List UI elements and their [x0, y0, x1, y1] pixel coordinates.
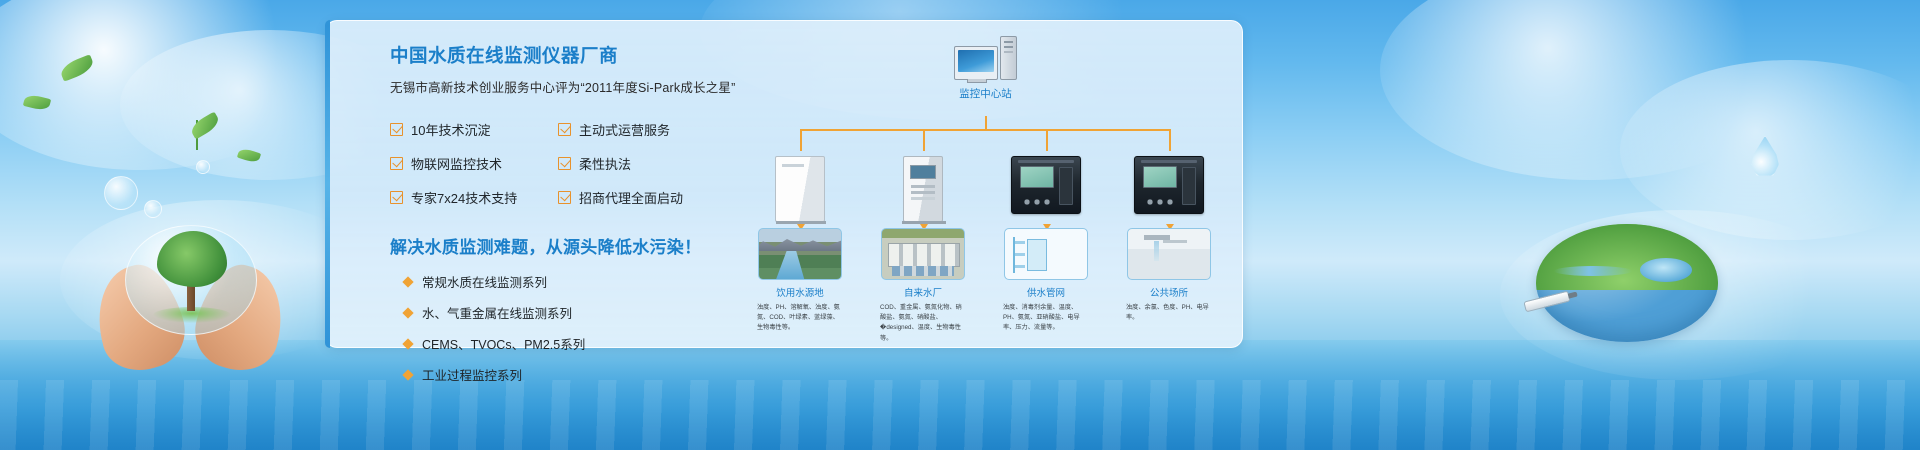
feature-label: 主动式运营服务 — [579, 120, 670, 139]
feature-item[interactable]: 柔性执法 — [558, 154, 728, 173]
scenario-photo-water-supply-network — [1004, 228, 1088, 280]
monitor-icon — [954, 46, 998, 80]
scenario-photo-waterworks — [881, 228, 965, 280]
leaf-icon — [23, 93, 51, 112]
scenario-title: 公共场所 — [1119, 285, 1219, 299]
leaf-icon — [237, 147, 261, 164]
checkbox-checked-icon — [390, 157, 403, 170]
tree-crown — [157, 231, 227, 287]
feature-item[interactable]: 物联网监控技术 — [390, 154, 558, 173]
device-cabinet-grey[interactable] — [873, 128, 973, 226]
scenario-title: 饮用水源地 — [750, 285, 850, 299]
feature-label: 物联网监控技术 — [411, 154, 502, 173]
diamond-bullet-icon — [402, 369, 413, 380]
list-item[interactable]: 工业过程监控系列 — [390, 365, 720, 384]
scenario-description: 浊度、余氯、色度、PH、电导率。 — [1126, 303, 1212, 323]
application-scenarios: 饮用水源地 浊度、PH、溶解氧、浊度、氨氮、COD、叶绿素、蓝绿藻、生物毒性等。… — [760, 228, 1190, 338]
panel-text-column: 中国水质在线监测仪器厂商 无锡市高新技术创业服务中心评为“2011年度Si-Pa… — [390, 42, 720, 396]
computer-icon — [938, 28, 1033, 80]
pc-tower-icon — [1000, 36, 1017, 80]
feature-checklist: 10年技术沉淀 主动式运营服务 物联网监控技术 柔性执法 专家7x24技术支持 … — [390, 120, 720, 207]
list-item[interactable]: 水、气重金属在线监测系列 — [390, 303, 720, 322]
product-series-list: 常规水质在线监测系列 水、气重金属在线监测系列 CEMS、TVOCs、PM2.5… — [390, 272, 720, 384]
bubble-decoration — [196, 160, 210, 174]
checkbox-checked-icon — [390, 191, 403, 204]
scenario-photo-drinking-water-source — [758, 228, 842, 280]
scenario-title: 供水管网 — [996, 285, 1096, 299]
globe-river — [1554, 266, 1632, 276]
list-item[interactable]: CEMS、TVOCs、PM2.5系列 — [390, 334, 720, 353]
scenario-description: 浊度、PH、溶解氧、浊度、氨氮、COD、叶绿素、蓝绿藻、生物毒性等。 — [757, 303, 843, 334]
scenario-description: COD、重金属、氨氮化物、硝酸盐、氨氮、硝酸盐、�designed、温度、生物毒… — [880, 303, 966, 344]
hands-holding-tree-illustration — [95, 225, 285, 370]
globe-grass — [1536, 224, 1718, 290]
cloud-decoration — [0, 0, 320, 170]
series-label: 常规水质在线监测系列 — [422, 272, 547, 291]
scenario-photo-public-places — [1127, 228, 1211, 280]
analyzer-top-bar — [1141, 160, 1197, 163]
feature-label: 专家7x24技术支持 — [411, 188, 517, 207]
diamond-bullet-icon — [402, 307, 413, 318]
water-droplet-icon — [1750, 136, 1780, 178]
bubble-decoration — [144, 200, 162, 218]
cloud-decoration — [1380, 0, 1800, 180]
feature-label: 柔性执法 — [579, 154, 631, 173]
grey-cabinet-icon — [903, 156, 943, 222]
leaf-icon — [58, 54, 96, 82]
device-cabinet-white[interactable] — [750, 128, 850, 226]
feature-item[interactable]: 主动式运营服务 — [558, 120, 728, 139]
series-label: 工业过程监控系列 — [422, 365, 522, 384]
analyzer-side-panel — [1059, 167, 1073, 205]
page-title: 中国水质在线监测仪器厂商 — [390, 42, 720, 68]
monitoring-center-label: 监控中心站 — [938, 86, 1033, 101]
list-item[interactable]: 常规水质在线监测系列 — [390, 272, 720, 291]
analyzer-keypad — [1145, 199, 1175, 205]
monitor-screen — [958, 50, 994, 72]
analyzer-top-bar — [1018, 160, 1074, 163]
feature-label: 10年技术沉淀 — [411, 120, 490, 139]
analyzer-screen — [1020, 166, 1054, 188]
monitor-stand — [967, 79, 987, 83]
analyzer-icon — [1011, 156, 1081, 214]
diamond-bullet-icon — [402, 276, 413, 287]
scenario-card[interactable]: 自来水厂 COD、重金属、氨氮化物、硝酸盐、氨氮、硝酸盐、�designed、温… — [873, 228, 973, 344]
checkbox-checked-icon — [558, 157, 571, 170]
series-label: CEMS、TVOCs、PM2.5系列 — [422, 334, 585, 353]
diamond-bullet-icon — [402, 338, 413, 349]
cabinet-buttons — [911, 185, 935, 188]
feature-item[interactable]: 10年技术沉淀 — [390, 120, 558, 139]
monitoring-center-node[interactable]: 监控中心站 — [938, 28, 1033, 101]
leaf-icon — [188, 112, 221, 140]
feature-item[interactable]: 招商代理全面启动 — [558, 188, 728, 207]
analyzer-icon — [1134, 156, 1204, 214]
analyzer-screen — [1143, 166, 1177, 188]
white-cabinet-icon — [775, 156, 825, 222]
scenario-card[interactable]: 供水管网 浊度、消毒剂余量、温度、PH、氨氮、亚硝酸盐、电导率、压力、流量等。 — [996, 228, 1096, 334]
water-reflection — [0, 380, 1920, 450]
checkbox-checked-icon — [390, 123, 403, 136]
panel-left-accent-bar — [325, 20, 330, 348]
checkbox-checked-icon — [558, 123, 571, 136]
device-analyzer-1[interactable] — [996, 128, 1096, 226]
scenario-title: 自来水厂 — [873, 285, 973, 299]
cabinet-display — [910, 165, 936, 179]
feature-item[interactable]: 专家7x24技术支持 — [390, 188, 558, 207]
section-heading: 解决水质监测难题，从源头降低水污染！ — [390, 233, 720, 258]
device-analyzer-2[interactable] — [1119, 128, 1219, 226]
checkbox-checked-icon — [558, 191, 571, 204]
feature-label: 招商代理全面启动 — [579, 188, 683, 207]
series-label: 水、气重金属在线监测系列 — [422, 303, 572, 322]
eco-globe-illustration — [1536, 224, 1718, 342]
bubble-decoration — [104, 176, 138, 210]
globe-lake — [1640, 258, 1692, 282]
scenario-card[interactable]: 公共场所 浊度、余氯、色度、PH、电导率。 — [1119, 228, 1219, 323]
system-topology-diagram: 监控中心站 — [760, 28, 1190, 338]
scenario-card[interactable]: 饮用水源地 浊度、PH、溶解氧、浊度、氨氮、COD、叶绿素、蓝绿藻、生物毒性等。 — [750, 228, 850, 334]
analyzer-keypad — [1022, 199, 1052, 205]
page-subtitle: 无锡市高新技术创业服务中心评为“2011年度Si-Park成长之星” — [390, 77, 720, 96]
device-row — [760, 128, 1190, 226]
analyzer-side-panel — [1182, 167, 1196, 205]
scenario-description: 浊度、消毒剂余量、温度、PH、氨氮、亚硝酸盐、电导率、压力、流量等。 — [1003, 303, 1089, 334]
